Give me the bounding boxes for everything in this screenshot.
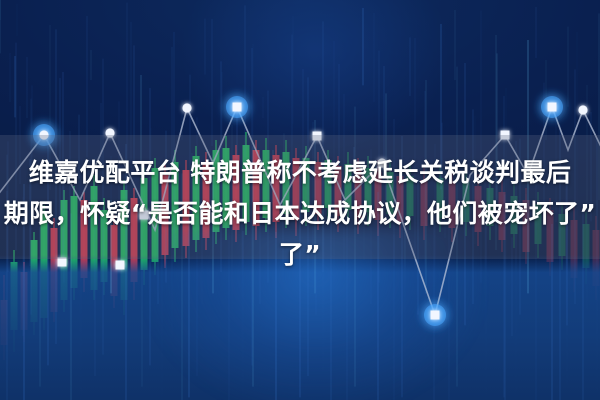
node-glow-halo — [424, 304, 446, 326]
headline-line-1: 维嘉优配平台 特朗普称不考虑延长关税谈判最后 — [29, 158, 572, 187]
news-banner-image: 维嘉优配平台 特朗普称不考虑延长关税谈判最后 期限，怀疑“是否能和日本达成协议，… — [0, 0, 600, 400]
node-glow-halo — [541, 96, 563, 118]
headline: 维嘉优配平台 特朗普称不考虑延长关税谈判最后 期限，怀疑“是否能和日本达成协议，… — [0, 152, 600, 275]
headline-line-3: 了” — [0, 234, 600, 275]
node-glow-halo — [226, 96, 248, 118]
headline-line-2: 期限，怀疑“是否能和日本达成协议，他们被宠坏了” — [0, 193, 600, 234]
